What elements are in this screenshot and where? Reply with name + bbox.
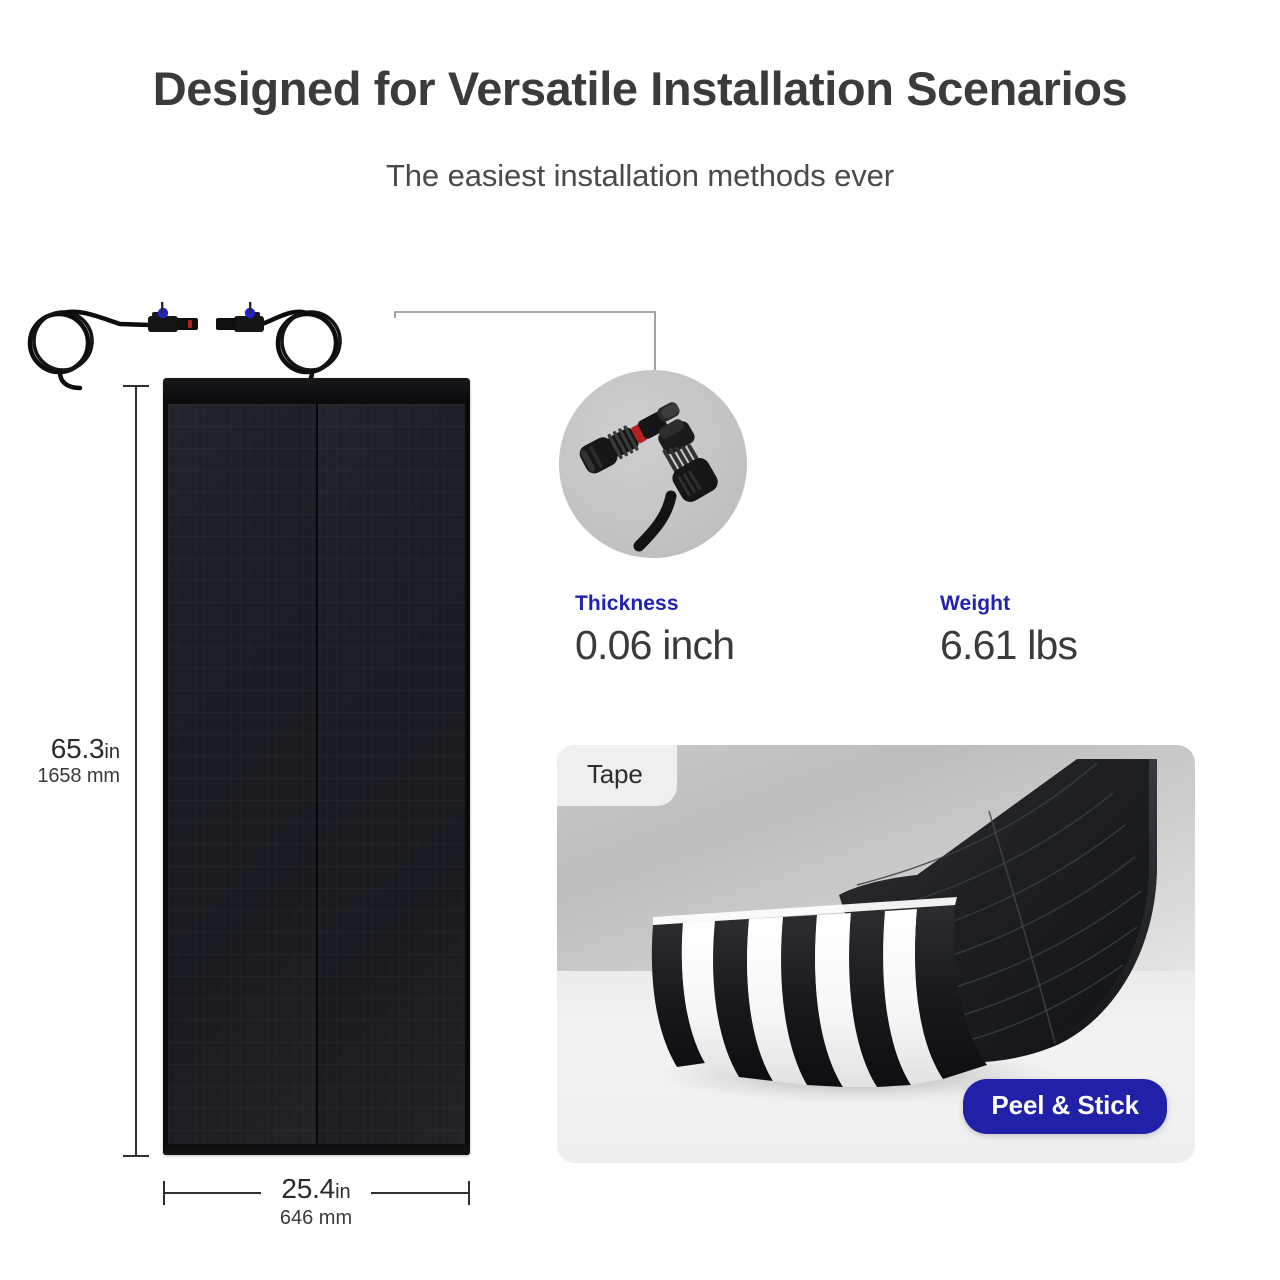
- page-title: Designed for Versatile Installation Scen…: [0, 62, 1280, 116]
- height-dimension-label: 65.3in 1658 mm: [0, 732, 120, 789]
- spec-thickness-value: 0.06 inch: [575, 622, 940, 669]
- solar-panel-front-view: [163, 378, 470, 1155]
- mc4-connector-pair-icon: [559, 370, 747, 558]
- peel-and-stick-badge: Peel & Stick: [963, 1079, 1167, 1134]
- height-dimension-cap-bottom: [123, 1155, 149, 1157]
- height-metric: 1658 mm: [0, 765, 120, 789]
- cell-column-right: [318, 404, 466, 1145]
- spec-weight: Weight 6.61 lbs: [940, 592, 1077, 669]
- spec-list: Thickness 0.06 inch Weight 6.61 lbs: [575, 592, 1215, 669]
- product-infographic: Designed for Versatile Installation Scen…: [0, 0, 1280, 1280]
- mc4-connector-right-icon: [216, 302, 264, 332]
- solar-panel-dimension-figure: 65.3in 1658 mm 25.4in 646 mm: [0, 280, 520, 1240]
- cell-column-left: [168, 404, 316, 1145]
- width-dimension-label: 25.4in 646 mm: [246, 1172, 386, 1230]
- cable-loop-left: [30, 312, 150, 388]
- width-metric: 646 mm: [246, 1206, 386, 1230]
- tape-installation-card: Tape Peel & Stick: [557, 745, 1195, 1163]
- width-value: 25.4: [281, 1173, 335, 1204]
- spec-thickness-label: Thickness: [575, 592, 940, 616]
- panel-top-frame: [163, 378, 470, 404]
- page-subtitle: The easiest installation methods ever: [0, 158, 1280, 194]
- width-unit: in: [335, 1181, 351, 1203]
- connector-closeup-circle: [559, 370, 747, 558]
- spec-thickness: Thickness 0.06 inch: [575, 592, 940, 669]
- height-unit: in: [104, 741, 120, 763]
- height-dimension-line: [135, 385, 137, 1157]
- mc4-connector-left-icon: [148, 302, 198, 332]
- tape-chip-label: Tape: [557, 745, 677, 806]
- connector-closeup-callout: [559, 370, 747, 558]
- height-dimension-cap-top: [123, 385, 149, 387]
- width-dimension-cap-left: [163, 1181, 165, 1205]
- width-dimension-cap-right: [468, 1181, 470, 1205]
- spec-weight-value: 6.61 lbs: [940, 622, 1077, 669]
- height-value: 65.3: [51, 733, 105, 764]
- spec-weight-label: Weight: [940, 592, 1077, 616]
- callout-leader-line: [395, 312, 655, 372]
- panel-bottom-frame: [163, 1144, 470, 1155]
- adhesive-tape-strips: [652, 905, 987, 1087]
- solar-cell-grid: [168, 404, 465, 1145]
